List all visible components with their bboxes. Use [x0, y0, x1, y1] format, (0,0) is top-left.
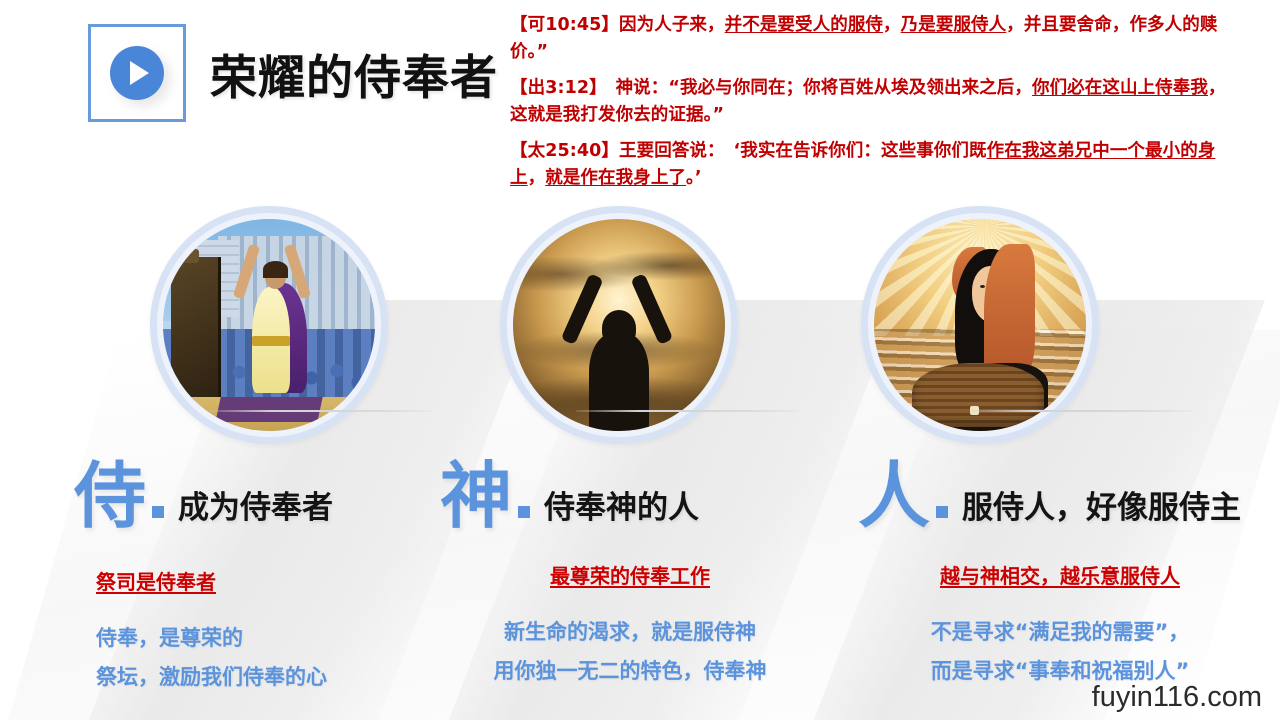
column-line-2-1: 新生命的渴求，就是服侍神	[440, 613, 820, 652]
verse-mark-10-45: 【可10:45】因为人子来，并不是要受人的服侍，乃是要服侍人，并且要舍命，作多人…	[510, 12, 1226, 65]
column-line-3-1: 不是寻求“满足我的需要”，	[850, 613, 1270, 652]
verse-matthew-25-40: 【太25:40】王要回答说： ‘我实在告诉你们：这些事你们既作在我这弟兄中一个最…	[510, 138, 1226, 191]
column-subtitle-2: 侍奉神的人	[544, 493, 699, 530]
verse-text: ，	[528, 168, 546, 188]
woman-with-basket-photo	[861, 206, 1099, 444]
verse-underline-2: 乃是要服侍人	[901, 15, 1007, 35]
verse-underline-1: 并不是要受人的服侍	[725, 15, 883, 35]
column-subtitle-3: 服侍人，好像服侍主	[962, 493, 1241, 530]
title-block: 荣耀的侍奉者	[88, 24, 498, 122]
play-button-frame	[88, 24, 186, 122]
photo-clip	[163, 219, 375, 431]
column-line-2-2: 用你独一无二的特色，侍奉神	[440, 652, 820, 691]
column-big-char-1: 侍	[74, 462, 146, 530]
verse-underline-1: 你们必在这山上侍奉我	[1032, 78, 1208, 98]
column-red-heading-2: 最尊荣的侍奉工作	[440, 560, 820, 589]
scripture-block: 【可10:45】因为人子来，并不是要受人的服侍，乃是要服侍人，并且要舍命，作多人…	[510, 12, 1226, 192]
column-body-3: 越与神相交，越乐意服侍人 不是寻求“满足我的需要”， 而是寻求“事奉和祝福别人”	[850, 560, 1270, 691]
verse-text: 神说：“我必与你同在；你将百姓从埃及领出来之后，	[598, 78, 1032, 98]
column-header-3: 人 服侍人，好像服侍主	[858, 462, 1241, 530]
square-bullet-icon	[518, 506, 530, 518]
slide-canvas: 荣耀的侍奉者 【可10:45】因为人子来，并不是要受人的服侍，乃是要服侍人，并且…	[0, 0, 1280, 720]
verse-text: 王要回答说： ‘我实在告诉你们：这些事你们既	[619, 141, 987, 161]
verse-ref: 【出3:12】	[510, 78, 598, 98]
column-big-char-3: 人	[858, 462, 930, 530]
site-watermark: fuyin116.com	[1092, 681, 1262, 714]
verse-text: 。’	[686, 168, 702, 188]
column-red-heading-1: 祭司是侍奉者	[60, 566, 420, 595]
header-divider	[576, 410, 798, 412]
column-body-1: 祭司是侍奉者 侍奉，是尊荣的 祭坛，激励我们侍奉的心	[60, 566, 420, 697]
header-divider	[970, 410, 1192, 412]
page-title: 荣耀的侍奉者	[210, 39, 498, 108]
column-header-2: 神 侍奉神的人	[440, 462, 699, 530]
verse-exodus-3-12: 【出3:12】 神说：“我必与你同在；你将百姓从埃及领出来之后，你们必在这山上侍…	[510, 75, 1226, 128]
sunset-silhouette-illustration	[513, 219, 725, 431]
verse-text: ，	[883, 15, 901, 35]
person-raising-hands-sunset-photo	[500, 206, 738, 444]
verse-ref: 【太25:40】	[510, 141, 619, 161]
column-line-1-2: 祭坛，激励我们侍奉的心	[60, 658, 420, 697]
column-body-2: 最尊荣的侍奉工作 新生命的渴求，就是服侍神 用你独一无二的特色，侍奉神	[440, 560, 820, 691]
solomon-illustration	[163, 219, 375, 431]
column-big-char-2: 神	[440, 462, 512, 530]
square-bullet-icon	[152, 506, 164, 518]
verse-text: 因为人子来，	[619, 15, 725, 35]
solomon-praying-at-temple-photo	[150, 206, 388, 444]
column-red-heading-3: 越与神相交，越乐意服侍人	[850, 560, 1270, 589]
play-icon	[110, 46, 164, 100]
play-triangle-glyph	[130, 61, 149, 85]
photo-clip	[513, 219, 725, 431]
column-subtitle-1: 成为侍奉者	[178, 493, 333, 530]
photo-clip	[874, 219, 1086, 431]
woman-basket-illustration	[874, 219, 1086, 431]
verse-underline-2: 就是作在我身上了	[545, 168, 686, 188]
column-header-1: 侍 成为侍奉者	[74, 462, 333, 530]
square-bullet-icon	[936, 506, 948, 518]
header-divider	[210, 410, 432, 412]
verse-ref: 【可10:45】	[510, 15, 619, 35]
column-line-1-1: 侍奉，是尊荣的	[60, 619, 420, 658]
